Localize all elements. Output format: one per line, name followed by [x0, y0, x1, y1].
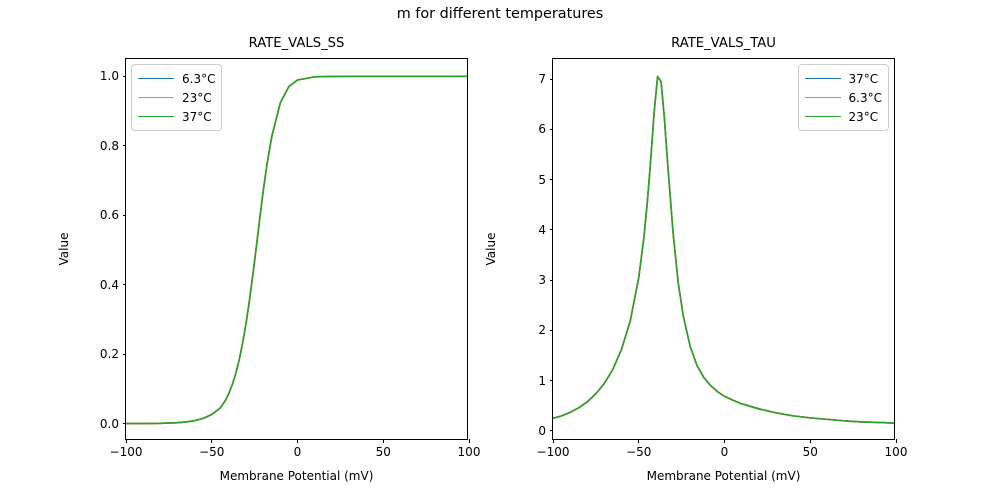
y-tick-label: 4: [486, 222, 546, 238]
y-tick-mark: [550, 280, 554, 281]
axes-title-tau: RATE_VALS_TAU: [553, 36, 894, 52]
y-tick-label: 5: [486, 172, 546, 188]
legend-entry[interactable]: 6.3°C: [138, 69, 215, 88]
x-tick-mark: [810, 439, 811, 443]
x-tick-label: −100: [86, 445, 166, 459]
axes-title-ss: RATE_VALS_SS: [126, 36, 467, 52]
legend-entry[interactable]: 37°C: [805, 69, 882, 88]
y-tick-label: 0.2: [59, 346, 119, 362]
y-tick-mark: [123, 284, 127, 285]
y-tick-label: 0: [486, 423, 546, 439]
y-tick-mark: [123, 354, 127, 355]
x-tick-mark: [896, 439, 897, 443]
y-tick-label: 0.8: [59, 138, 119, 154]
x-tick-label: 100: [856, 445, 936, 459]
y-tick-label: 0.0: [59, 416, 119, 432]
legend-entry[interactable]: 6.3°C: [805, 88, 882, 107]
legend-entry-label: 37°C: [182, 110, 212, 124]
legend-line-swatch: [805, 97, 841, 98]
legend-entry[interactable]: 37°C: [138, 107, 215, 126]
x-tick-mark: [469, 439, 470, 443]
y-tick-label: 2: [486, 322, 546, 338]
y-tick-label: 1.0: [59, 68, 119, 84]
legend-line-swatch: [805, 116, 841, 117]
y-tick-mark: [123, 215, 127, 216]
matplotlib-figure: m for different temperatures RATE_VALS_S…: [0, 0, 1000, 500]
y-tick-mark: [550, 229, 554, 230]
y-tick-label: 1: [486, 373, 546, 389]
y-tick-mark: [550, 430, 554, 431]
y-tick-mark: [550, 179, 554, 180]
x-tick-label: 50: [770, 445, 850, 459]
ylabel-tau: Value: [483, 189, 499, 309]
x-tick-mark: [126, 439, 127, 443]
y-tick-mark: [123, 145, 127, 146]
legend-entry-label: 6.3°C: [849, 91, 882, 105]
legend-entry-label: 37°C: [849, 72, 879, 86]
legend-entry-label: 23°C: [182, 91, 212, 105]
y-tick-mark: [550, 129, 554, 130]
figure-suptitle: m for different temperatures: [0, 5, 1000, 23]
x-tick-label: −50: [599, 445, 679, 459]
y-tick-mark: [123, 423, 127, 424]
y-tick-label: 6: [486, 121, 546, 137]
x-tick-mark: [211, 439, 212, 443]
legend-line-swatch: [805, 78, 841, 79]
legend-entry-label: 6.3°C: [182, 72, 215, 86]
y-tick-label: 0.4: [59, 277, 119, 293]
y-tick-mark: [550, 330, 554, 331]
x-tick-label: 0: [685, 445, 765, 459]
axes-rate-vals-ss: RATE_VALS_SS Value Membrane Potential (m…: [125, 58, 468, 440]
y-tick-label: 0.6: [59, 207, 119, 223]
y-tick-label: 3: [486, 272, 546, 288]
y-tick-mark: [550, 79, 554, 80]
legend-line-swatch: [138, 78, 174, 79]
legend-tau[interactable]: 37°C6.3°C23°C: [798, 64, 889, 131]
xlabel-tau: Membrane Potential (mV): [553, 469, 894, 483]
x-tick-mark: [383, 439, 384, 443]
y-tick-label: 7: [486, 71, 546, 87]
legend-entry[interactable]: 23°C: [805, 107, 882, 126]
xlabel-ss: Membrane Potential (mV): [126, 469, 467, 483]
x-tick-mark: [724, 439, 725, 443]
axes-rate-vals-tau: RATE_VALS_TAU Value Membrane Potential (…: [552, 58, 895, 440]
x-tick-mark: [297, 439, 298, 443]
legend-line-swatch: [138, 116, 174, 117]
legend-ss[interactable]: 6.3°C23°C37°C: [131, 64, 222, 131]
x-tick-label: −50: [172, 445, 252, 459]
x-tick-label: −100: [513, 445, 593, 459]
y-tick-mark: [123, 76, 127, 77]
x-tick-label: 100: [429, 445, 509, 459]
legend-entry[interactable]: 23°C: [138, 88, 215, 107]
x-tick-mark: [553, 439, 554, 443]
legend-entry-label: 23°C: [849, 110, 879, 124]
x-tick-label: 50: [343, 445, 423, 459]
x-tick-label: 0: [258, 445, 338, 459]
y-tick-mark: [550, 380, 554, 381]
legend-line-swatch: [138, 97, 174, 98]
x-tick-mark: [638, 439, 639, 443]
